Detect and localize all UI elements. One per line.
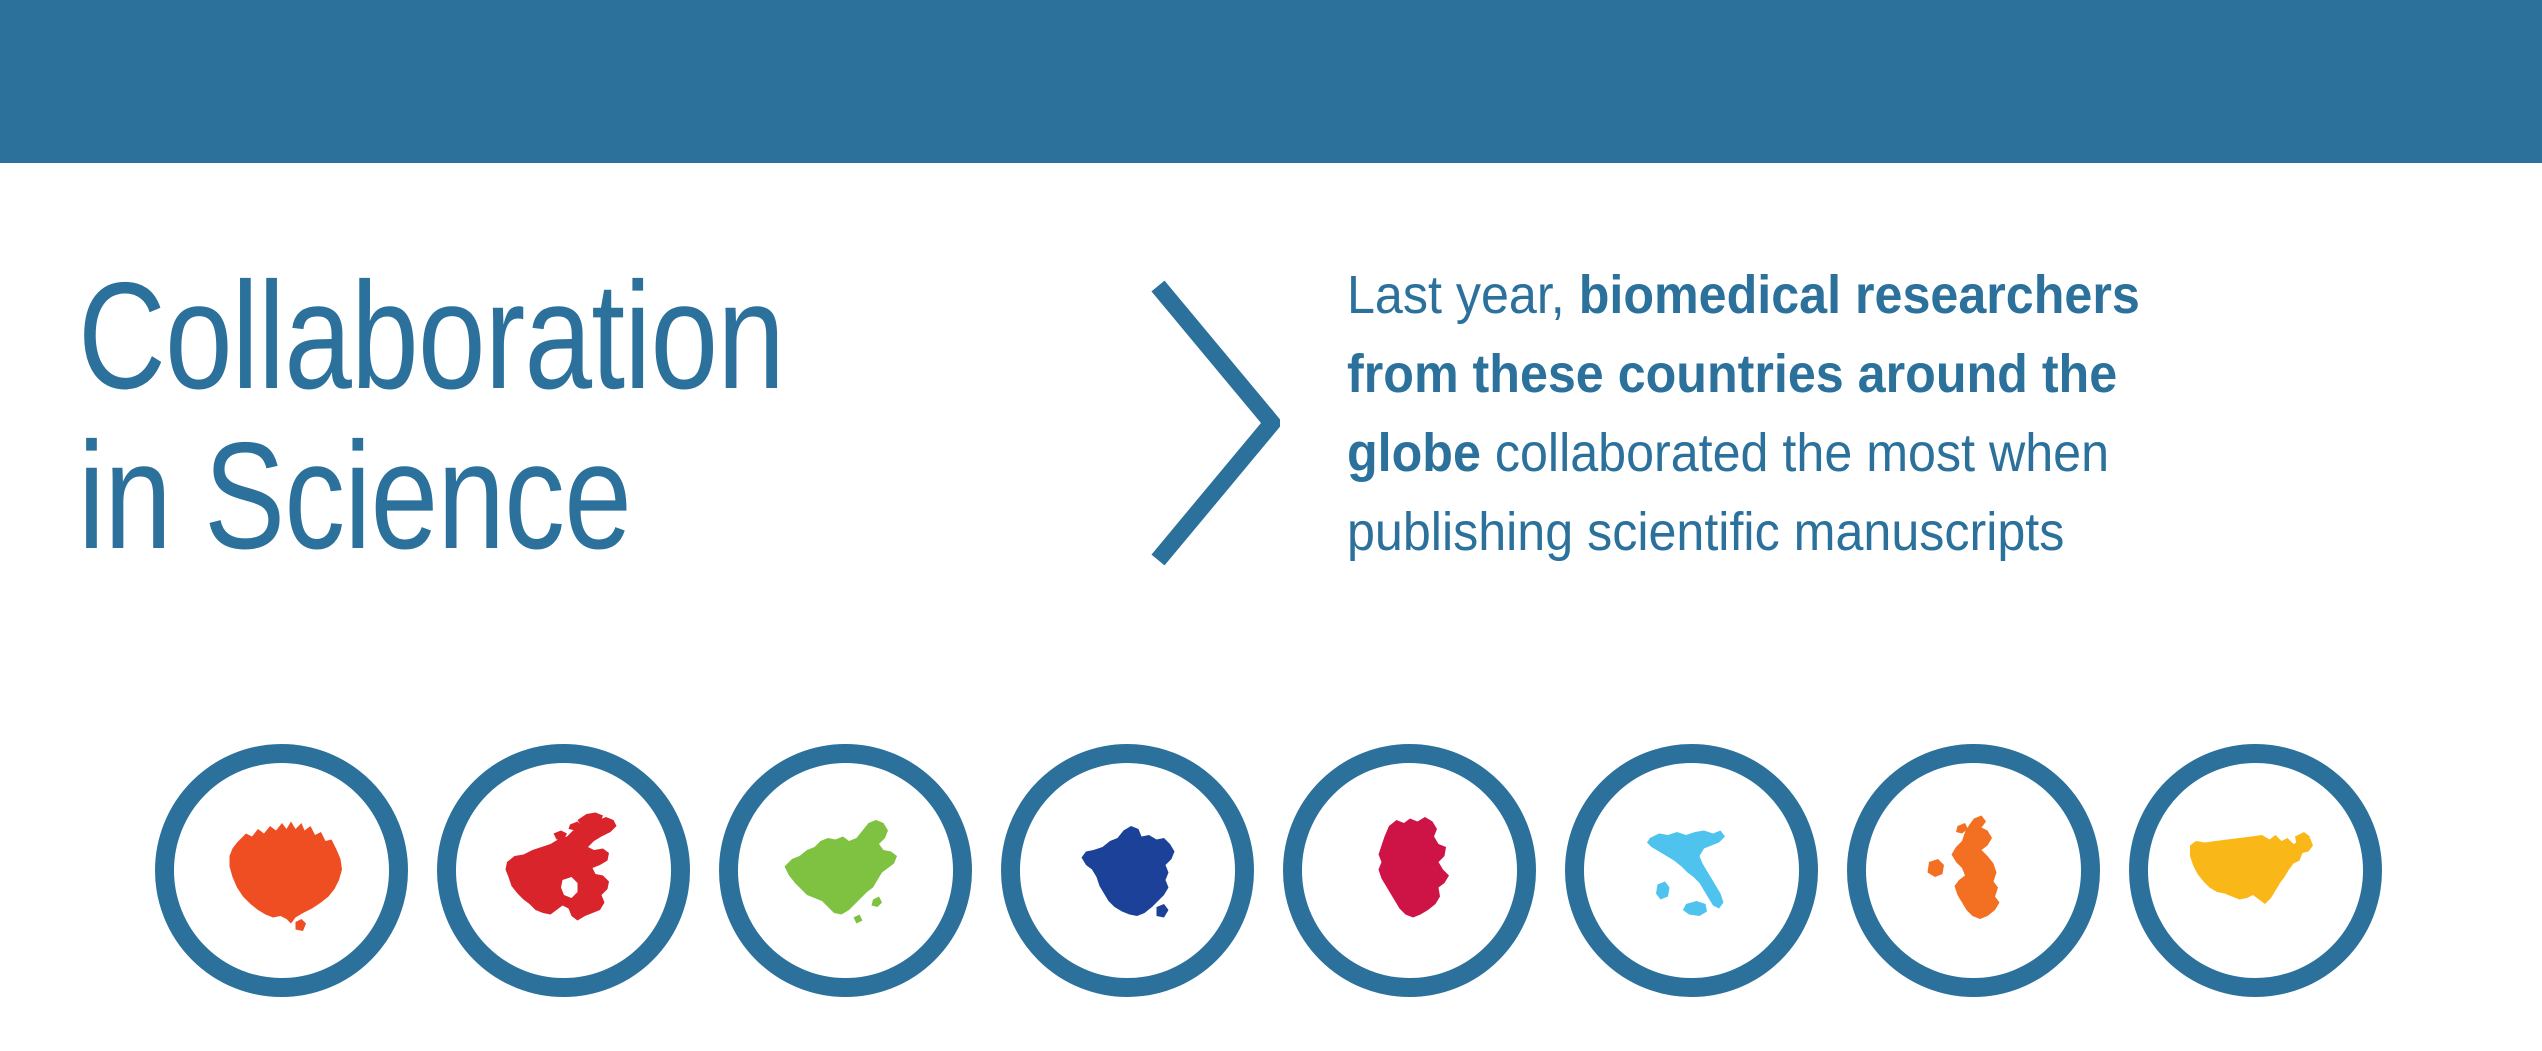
country-badge-united-kingdom[interactable]	[1847, 744, 2100, 997]
uk-map-icon	[1899, 801, 2049, 941]
country-badge-united-states[interactable]	[2129, 744, 2382, 997]
country-badge-france[interactable]	[1001, 744, 1254, 997]
country-badge-germany[interactable]	[1283, 744, 1536, 997]
australia-map-icon	[207, 801, 357, 941]
canada-map-icon	[489, 801, 639, 941]
china-map-icon	[771, 801, 921, 941]
france-map-icon	[1053, 801, 1203, 941]
italy-map-icon	[1617, 801, 1767, 941]
lede-text-normal: Last year,	[1347, 265, 1579, 325]
lede-line-3: globe collaborated the most when	[1347, 414, 2277, 493]
lede-text-normal: publishing scientific manuscripts	[1347, 502, 2064, 562]
country-badge-italy[interactable]	[1565, 744, 1818, 997]
page-title-line-2: in Science	[78, 416, 894, 576]
country-badge-china[interactable]	[719, 744, 972, 997]
chevron-right-icon	[1150, 278, 1280, 568]
country-badge-canada[interactable]	[437, 744, 690, 997]
page-title: Collaboration in Science	[78, 256, 1098, 576]
lede-text-bold: from these countries around the	[1347, 344, 2117, 404]
top-color-band	[0, 0, 2542, 163]
usa-map-icon	[2181, 801, 2331, 941]
lede-line-2: from these countries around the	[1347, 335, 2277, 414]
lede-text-bold: biomedical researchers	[1579, 265, 2140, 325]
country-badge-row	[155, 743, 2345, 998]
lede-line-1: Last year, biomedical researchers	[1347, 256, 2277, 335]
lede-paragraph: Last year, biomedical researchers from t…	[1347, 256, 2347, 572]
germany-map-icon	[1335, 801, 1485, 941]
lede-text-normal: collaborated the most when	[1481, 423, 2109, 483]
page-title-line-1: Collaboration	[78, 256, 894, 416]
lede-line-4: publishing scientific manuscripts	[1347, 493, 2277, 572]
lede-text-bold: globe	[1347, 423, 1481, 483]
country-badge-australia[interactable]	[155, 744, 408, 997]
infographic-header: Collaboration in Science Last year, biom…	[0, 0, 2542, 1051]
